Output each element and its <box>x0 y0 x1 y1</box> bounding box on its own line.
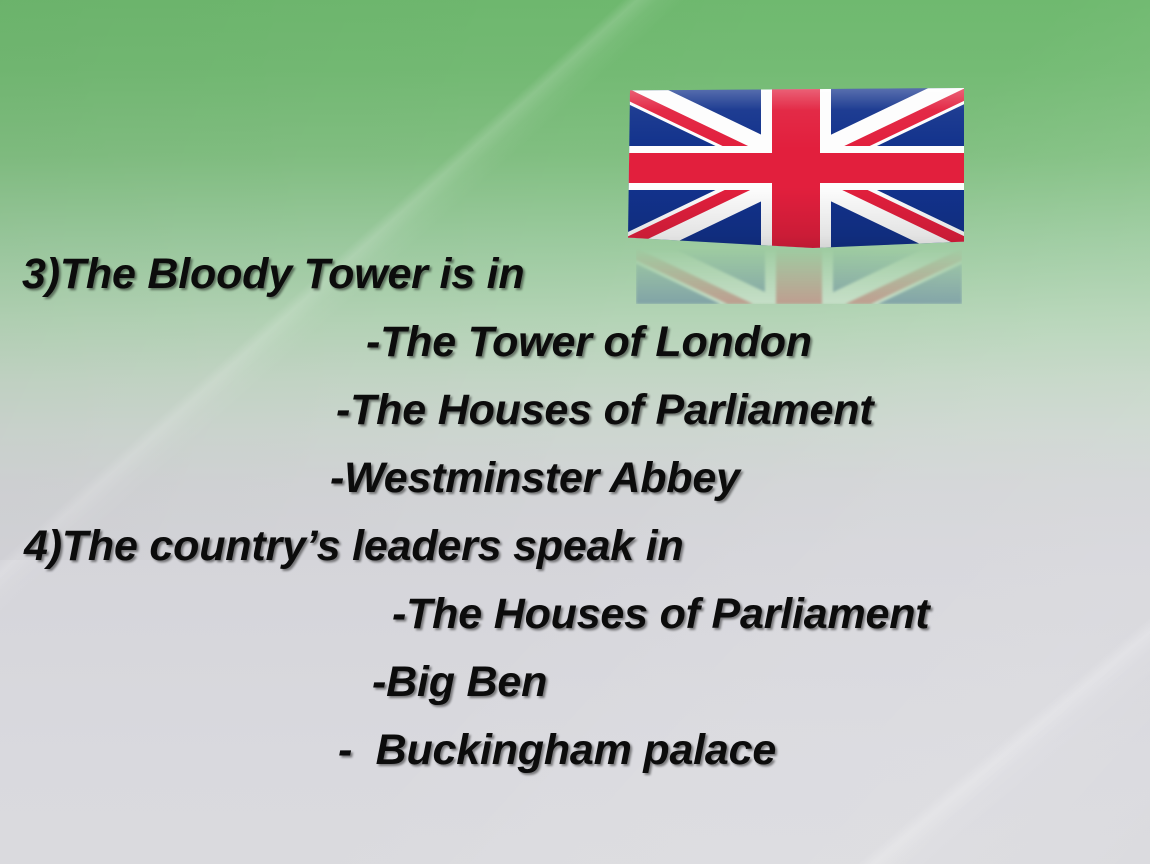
flag-red-cross-vertical <box>772 88 819 248</box>
question-3-option-2: -The Houses of Parliament <box>0 376 1150 444</box>
question-3-text: 3)The Bloody Tower is in <box>0 240 1150 308</box>
question-4-option-1: -The Houses of Parliament <box>0 580 1150 648</box>
slide-text-block: 3)The Bloody Tower is in -The Tower of L… <box>0 240 1150 784</box>
question-4-option-2: -Big Ben <box>0 648 1150 716</box>
question-3-option-3: -Westminster Abbey <box>0 444 1150 512</box>
question-4-text: 4)The country’s leaders speak in <box>0 512 1150 580</box>
union-jack-flag-image <box>628 88 964 248</box>
union-jack-flag <box>628 88 964 248</box>
question-4-option-3: - Buckingham palace <box>0 716 1150 784</box>
question-3-option-1: -The Tower of London <box>0 308 1150 376</box>
presentation-slide: 3)The Bloody Tower is in -The Tower of L… <box>0 0 1150 864</box>
